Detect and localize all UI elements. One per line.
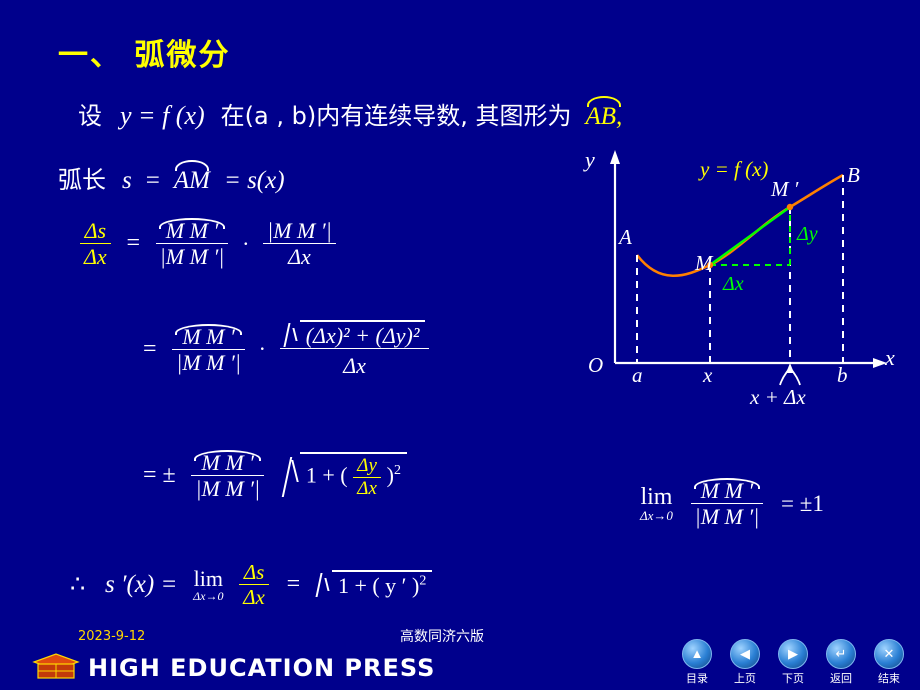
curve-label: y = f (x) [700,157,768,182]
limit-operator: lim Δx→0 [640,485,673,522]
eq3-inner-fraction: Δy Δx [353,455,381,500]
eq1-lhs-fraction: Δs Δx [80,218,111,270]
eq2-equals: = [143,336,157,362]
close-icon: ✕ [875,640,903,668]
equation-2: = M M ′ M M ′ · (Δx)² + (Δy)² Δx [143,320,429,379]
pointer-arrow [786,363,794,373]
arclength-eq1: = [146,167,160,194]
nav-back-label: 返回 [824,670,858,686]
eq2-sqrt: (Δx)² + (Δy)² [284,320,426,348]
nav-button-group: ▲ 目录 ◀ 上页 ▶ 下页 ↵ 返回 ✕ 结束 [680,639,906,686]
triangle-right-icon: ▶ [779,640,807,668]
limit-fraction: M M ′ M M ′ [691,478,764,530]
label-delta-x: Δx [723,273,744,296]
press-name: HIGH EDUCATION PRESS [88,654,435,682]
eq2-fraction-b: (Δx)² + (Δy)² Δx [280,320,430,379]
point-label-M-prime: M ′ [771,177,798,202]
eq2-fraction-a: M M ′ M M ′ [172,324,245,376]
nav-back-button[interactable]: ↵ 返回 [824,639,858,686]
eq4-sqrt-text: 1 + ( y ′ ) [338,573,419,598]
eq3-fraction: M M ′ M M ′ [191,450,264,502]
footer-date: 2023-9-12 [78,629,145,644]
eq3-sqrt-exp: 2 [394,463,401,478]
eq1-fraction-a: M M ′ M M ′ [156,218,229,270]
nav-catalog-button[interactable]: ▲ 目录 [680,639,714,686]
return-arrow-icon: ↵ [827,640,855,668]
label-x-plus-delta-x: x + Δx [750,385,806,410]
equation-1: Δs Δx = M M ′ M M ′ · M M ′ Δx [80,218,336,270]
eq1-equals: = [126,230,140,256]
arclength-eq2: = s(x) [224,167,285,194]
arclength-label: 弧长 [58,166,106,194]
eq2-dot: · [259,336,266,361]
equation-4: ∴ s ′(x) = lim Δx→0 Δs Δx = 1 + ( y ′ )2 [70,560,432,609]
arclength-arc-AM: AM [174,160,210,195]
intro-prefix: 设 [78,102,102,130]
intro-middle: 在(a , b)内有连续导数, 其图形为 [221,102,572,130]
point-label-B: B [847,163,860,188]
triangle-up-icon: ▲ [683,640,711,668]
eq4-therefore: ∴ [70,572,85,598]
tick-label-b: b [837,363,848,388]
eq3-sqrt-prefix: 1 + ( [306,463,348,488]
equation-3: = ± M M ′ M M ′ 1 + ( Δy Δx )2 [143,450,407,502]
y-axis-arrow [610,150,620,164]
intro-formula: y = f (x) [120,101,205,130]
triangle-left-icon: ◀ [731,640,759,668]
limit-identity: lim Δx→0 M M ′ M M ′ = ±1 [640,478,824,530]
chord-MM-prime [710,207,790,265]
tick-label-a: a [632,363,643,388]
axis-origin: O [588,353,603,378]
eq4-equals: = [287,571,301,597]
point-M-prime [787,204,793,210]
arclength-line: 弧长 s = AM = s(x) [58,160,285,195]
figure-graph: y x O y = f (x) A B M M ′ Δy Δx a x b x … [575,145,905,415]
tick-label-x: x [703,363,712,388]
page-title: 一、 弧微分 [58,30,230,74]
arc-AB-label: AB, [585,96,622,131]
eq1-dot: · [242,231,249,256]
nav-catalog-label: 目录 [680,670,714,686]
press-logo-icon [30,650,82,684]
intro-line: 设 y = f (x) 在(a , b)内有连续导数, 其图形为 AB, [78,96,622,131]
axis-label-y: y [585,147,595,173]
eq4-sqrt-exp: 2 [419,573,426,588]
nav-prev-label: 上页 [728,670,762,686]
eq3-equals: = ± [143,462,176,488]
slide-root: 一、 弧微分 设 y = f (x) 在(a , b)内有连续导数, 其图形为 … [0,0,920,690]
eq3-sqrt-suffix: ) [387,463,394,488]
nav-end-label: 结束 [872,670,906,686]
eq1-fraction-b: M M ′ Δx [263,218,336,270]
nav-prev-button[interactable]: ◀ 上页 [728,639,762,686]
eq4-lhs: s ′(x) = [105,571,177,598]
eq4-sqrt: 1 + ( y ′ )2 [316,570,432,599]
limit-rhs: = ±1 [781,491,824,516]
axis-label-x: x [885,345,895,371]
label-delta-y: Δy [797,223,818,246]
eq4-fraction: Δs Δx [239,560,269,609]
point-label-M: M [695,251,713,276]
nav-next-button[interactable]: ▶ 下页 [776,639,810,686]
eq4-limit-operator: lim Δx→0 [193,568,223,602]
eq3-sqrt: 1 + ( Δy Δx )2 [284,452,407,500]
arclength-s: s [122,167,132,194]
point-label-A: A [619,225,632,250]
nav-end-button[interactable]: ✕ 结束 [872,639,906,686]
nav-next-label: 下页 [776,670,810,686]
footer-course: 高数同济六版 [400,626,484,646]
